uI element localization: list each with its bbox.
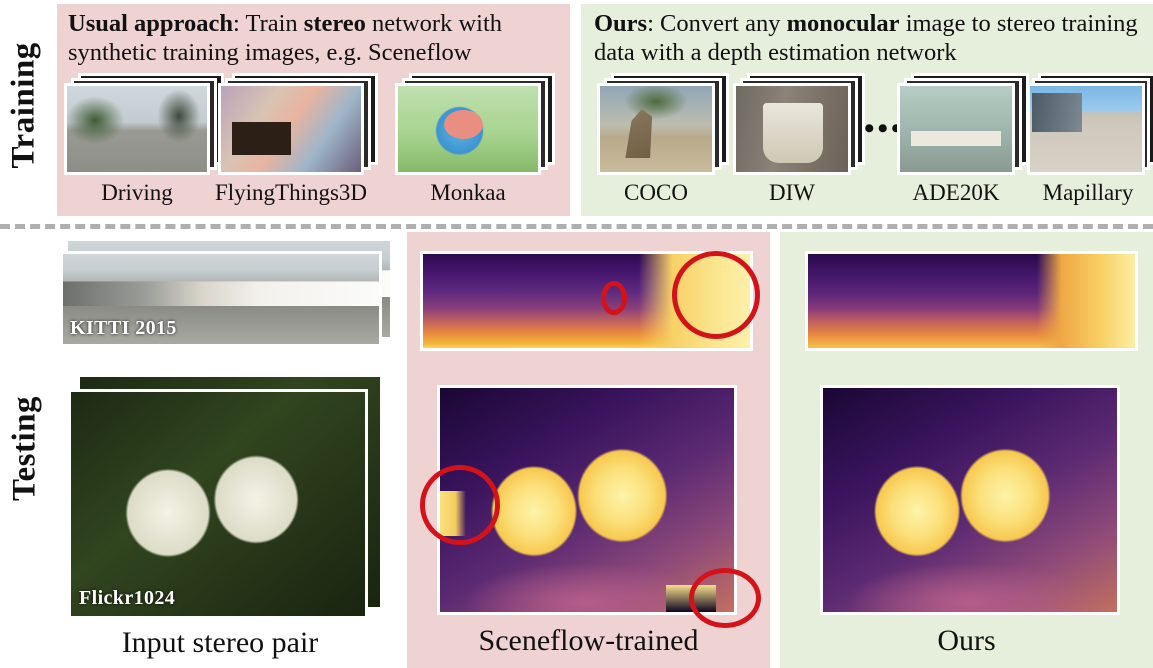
ade20k-scene-art: [900, 86, 1012, 172]
driving-scene-art: [67, 86, 207, 172]
artifact-circle-kitti-large: [672, 251, 760, 339]
dataset-thumbnail-flyingthings3d: [218, 83, 364, 175]
kitti-depth-art-ours: [808, 254, 1135, 348]
dataset-thumbnail-stack-ade20k: [897, 83, 1015, 175]
usual-approach-colon: :: [233, 10, 240, 37]
testing-column-caption-input: Input stereo pair: [40, 626, 400, 660]
flickr-left-image-art: [71, 392, 365, 616]
artifact-circle-flower-left: [420, 465, 500, 545]
dataset-thumbnail-stack-driving: [64, 83, 210, 175]
ours-flower-depth-map: [820, 385, 1120, 615]
coco-scene-art: [600, 86, 712, 172]
dataset-caption-mapillary: Mapillary: [1019, 180, 1153, 206]
dataset-thumbnail-monkaa: [395, 83, 541, 175]
dataset-thumbnail-coco: [597, 83, 715, 175]
section-label-training: Training: [6, 49, 43, 169]
dataset-thumbnail-stack-monkaa: [395, 83, 541, 175]
ours-approach-colon: :: [647, 10, 654, 37]
ours-approach-text-a: Convert any: [654, 10, 787, 37]
usual-approach-text-a: Train: [240, 10, 304, 37]
usual-approach-heading: Usual approach: Train stereo network wit…: [68, 9, 568, 68]
dataset-thumbnail-stack-flyingthings3d: [218, 83, 364, 175]
dataset-caption-driving: Driving: [54, 180, 220, 206]
dataset-thumbnail-driving: [64, 83, 210, 175]
ours-approach-heading: Ours: Convert any monocular image to ste…: [594, 9, 1150, 68]
testing-column-caption-sceneflow: Sceneflow-trained: [407, 624, 770, 658]
input-flickr-stereo-front: Flickr1024: [68, 389, 368, 619]
flyingthings3d-scene-art: [221, 86, 361, 172]
dataset-thumbnail-diw: [733, 83, 851, 175]
usual-approach-emphasis: stereo: [304, 10, 366, 37]
dataset-caption-ade20k: ADE20K: [887, 180, 1025, 206]
testing-column-caption-ours: Ours: [780, 624, 1153, 658]
dataset-caption-monkaa: Monkaa: [385, 180, 551, 206]
ours-kitti-depth-map: [805, 251, 1138, 351]
mapillary-scene-art: [1030, 86, 1142, 172]
monkaa-scene-art: [398, 86, 538, 172]
dataset-thumbnail-stack-diw: [733, 83, 851, 175]
dataset-caption-diw: DIW: [723, 180, 861, 206]
diw-scene-art: [736, 86, 848, 172]
ours-approach-lead: Ours: [594, 10, 647, 37]
training-testing-divider: [0, 224, 1153, 229]
artifact-circle-flower-bottom: [689, 568, 761, 628]
kitti-dataset-tag: KITTI 2015: [70, 317, 177, 340]
usual-approach-lead: Usual approach: [68, 10, 233, 37]
input-kitti-stereo-front: KITTI 2015: [60, 251, 382, 347]
flickr-dataset-tag: Flickr1024: [79, 587, 175, 610]
dataset-thumbnail-stack-mapillary: [1027, 83, 1145, 175]
dataset-caption-coco: COCO: [587, 180, 725, 206]
flower-depth-art-ours: [823, 388, 1117, 612]
dataset-thumbnail-ade20k: [897, 83, 1015, 175]
dataset-thumbnail-stack-coco: [597, 83, 715, 175]
dataset-thumbnail-mapillary: [1027, 83, 1145, 175]
artifact-circle-kitti-small: [601, 281, 627, 315]
ours-approach-emphasis: monocular: [787, 10, 900, 37]
section-label-testing: Testing: [7, 384, 44, 514]
dataset-caption-flyingthings3d: FlyingThings3D: [198, 180, 384, 206]
